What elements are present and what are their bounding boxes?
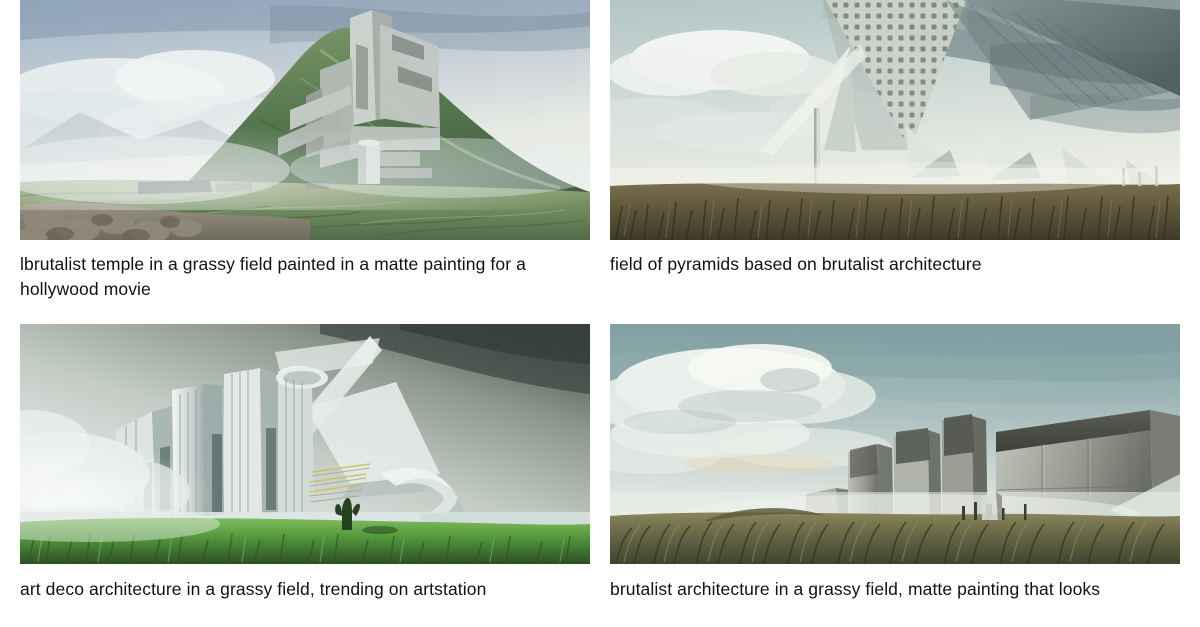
result-thumbnail-4[interactable] [610, 324, 1180, 564]
matte-painting-art-deco [20, 324, 590, 564]
result-thumbnail-3[interactable] [20, 324, 590, 564]
result-caption[interactable]: lbrutalist temple in a grassy field pain… [20, 240, 580, 310]
row-spacer [0, 310, 1200, 324]
result-thumbnail-2[interactable] [610, 0, 1180, 240]
result-item: art deco architecture in a grassy field,… [20, 324, 590, 610]
image-results-grid: lbrutalist temple in a grassy field pain… [0, 0, 1200, 310]
result-caption[interactable]: field of pyramids based on brutalist arc… [610, 240, 1170, 285]
result-caption[interactable]: brutalist architecture in a grassy field… [610, 564, 1170, 610]
matte-painting-brutalist-field [610, 324, 1180, 564]
result-item: brutalist architecture in a grassy field… [610, 324, 1180, 610]
matte-painting-pyramid-field [610, 0, 1180, 240]
result-caption[interactable]: art deco architecture in a grassy field,… [20, 564, 580, 610]
result-item: lbrutalist temple in a grassy field pain… [20, 0, 590, 310]
image-results-grid-row2: art deco architecture in a grassy field,… [0, 324, 1200, 610]
result-thumbnail-1[interactable] [20, 0, 590, 240]
result-item: field of pyramids based on brutalist arc… [610, 0, 1180, 310]
matte-painting-brutalist-temple [20, 0, 590, 240]
